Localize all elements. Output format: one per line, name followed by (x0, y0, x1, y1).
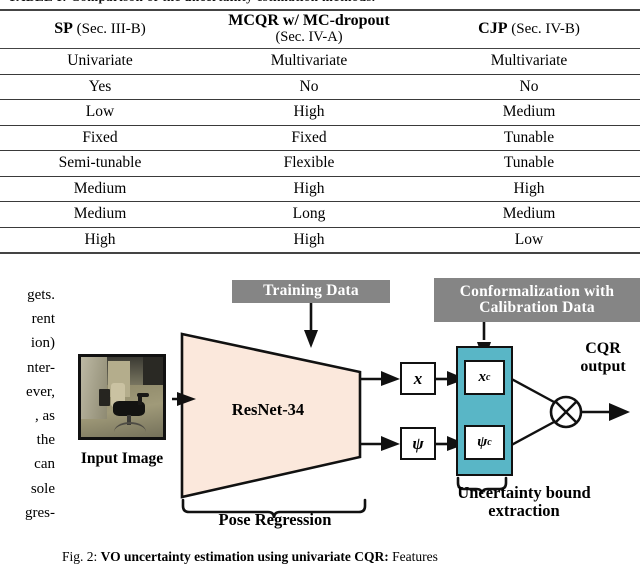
figure-caption-bold: VO uncertainty estimation using univaria… (101, 549, 389, 564)
figure-caption-line: Fig. 2: VO uncertainty estimation using … (62, 549, 438, 565)
x-variable-box[interactable]: x (400, 362, 436, 395)
conformalization-label-line2: Calibration Data (479, 300, 595, 316)
line-xc-to-multiply (506, 376, 554, 402)
input-image-label: Input Image (62, 450, 182, 468)
arrowhead-training-to-resnet (304, 330, 318, 348)
line-psic-to-multiply (506, 422, 554, 448)
table-cell: Tunable (418, 125, 640, 151)
body-text-line: can (0, 452, 58, 476)
psic-variable-box[interactable]: ψc (464, 425, 505, 460)
table-row: Univariate Multivariate Multivariate (0, 49, 640, 75)
table-cell: Yes (0, 74, 200, 100)
body-text-line: sole (0, 477, 58, 501)
table-cell: Medium (418, 202, 640, 228)
header-method-name: SP (54, 20, 73, 37)
table-cell: Fixed (200, 125, 418, 151)
uncertainty-label-line1: Uncertainty bound (410, 484, 638, 502)
header-method-name: CJP (478, 20, 507, 37)
body-text-line: gres- (0, 501, 58, 525)
table-row: Fixed Fixed Tunable (0, 125, 640, 151)
table-cell: High (0, 227, 200, 253)
body-text-line: gets. (0, 283, 58, 307)
table-caption-text: TABLE I: Comparison of the uncertainty e… (8, 0, 375, 5)
table-header-cell-1: SP (Sec. III-B) (0, 10, 200, 49)
table-cell: No (200, 74, 418, 100)
table-row: Semi-tunable Flexible Tunable (0, 151, 640, 177)
comparison-table-container: SP (Sec. III-B) MCQR w/ MC-dropout (Sec.… (0, 9, 640, 254)
body-text-line: ever, (0, 380, 58, 404)
training-data-label: Training Data (263, 283, 359, 299)
resnet-label: ResNet-34 (188, 400, 348, 420)
table-row: Yes No No (0, 74, 640, 100)
psic-variable-label: ψ (477, 434, 487, 451)
table-cell: High (200, 100, 418, 126)
photo-dark-region (143, 357, 166, 385)
table-caption-fragment: TABLE I: Comparison of the uncertainty e… (0, 0, 640, 9)
table-cell: No (418, 74, 640, 100)
body-text-line: ion) (0, 331, 58, 355)
photo-chair-arm-post (138, 395, 142, 405)
body-text-column-fragment: gets. rent ion) nter- ever, , as the can… (0, 283, 58, 525)
table-cell: Multivariate (200, 49, 418, 75)
table-row: Low High Medium (0, 100, 640, 126)
table-row: Medium High High (0, 176, 640, 202)
table-cell: Tunable (418, 151, 640, 177)
header-method-section: (Sec. III-B) (73, 21, 146, 37)
arrowhead-resnet-to-psi (381, 436, 400, 451)
header-method-name: MCQR w/ MC-dropout (228, 12, 389, 29)
table-cell: Medium (0, 202, 200, 228)
body-text-line: , as (0, 404, 58, 428)
arrowhead-resnet-to-x (381, 371, 400, 386)
photo-bin (99, 389, 110, 406)
pose-regression-label: Pose Regression (170, 510, 380, 530)
table-cell: Medium (418, 100, 640, 126)
table-cell: Fixed (0, 125, 200, 151)
table-cell: High (200, 227, 418, 253)
cqr-output-line1: CQR (548, 340, 640, 358)
arrowhead-cqr-output (609, 403, 630, 421)
training-data-box[interactable]: Training Data (232, 280, 390, 303)
table-cell: Univariate (0, 49, 200, 75)
table-cell: High (200, 176, 418, 202)
table-cell: Multivariate (418, 49, 640, 75)
xc-variable-box[interactable]: xc (464, 360, 505, 395)
body-text-line: the (0, 428, 58, 452)
figure-caption: Fig. 2: VO uncertainty estimation using … (62, 549, 640, 565)
psi-variable-label: ψ (412, 434, 423, 454)
table-cell: Flexible (200, 151, 418, 177)
psic-variable-subscript: c (487, 437, 491, 448)
figure-caption-prefix: Fig. 2: (62, 549, 101, 564)
table-cell: Medium (0, 176, 200, 202)
xc-variable-label: x (479, 369, 487, 386)
table-cell: Low (418, 227, 640, 253)
table-cell: High (418, 176, 640, 202)
cqr-output-line2: output (548, 358, 640, 376)
table-header-cell-3: CJP (Sec. IV-B) (418, 10, 640, 49)
table-row: High High Low (0, 227, 640, 253)
pipeline-diagram: Training Data Conformalization with Cali… (60, 272, 640, 540)
input-image-thumbnail[interactable] (78, 354, 166, 440)
body-text-line: nter- (0, 356, 58, 380)
table-cell: Semi-tunable (0, 151, 200, 177)
xc-variable-subscript: c (486, 372, 490, 383)
conformalization-label-line1: Conformalization with (460, 284, 614, 300)
x-variable-label: x (414, 369, 423, 389)
header-method-section: (Sec. IV-B) (507, 21, 579, 37)
table-header-row: SP (Sec. III-B) MCQR w/ MC-dropout (Sec.… (0, 10, 640, 49)
photo-left-wall (81, 357, 107, 419)
header-method-section: (Sec. IV-A) (200, 30, 418, 45)
figure-caption-suffix: Features (389, 549, 438, 564)
comparison-table: SP (Sec. III-B) MCQR w/ MC-dropout (Sec.… (0, 9, 640, 254)
uncertainty-label-line2: extraction (410, 502, 638, 520)
cqr-output-label: CQR output (548, 340, 640, 376)
conformalization-box[interactable]: Conformalization with Calibration Data (434, 278, 640, 322)
psi-variable-box[interactable]: ψ (400, 427, 436, 460)
uncertainty-bound-label: Uncertainty bound extraction (410, 484, 638, 520)
table-row: Medium Long Medium (0, 202, 640, 228)
table-cell: Long (200, 202, 418, 228)
table-cell: Low (0, 100, 200, 126)
body-text-line: rent (0, 307, 58, 331)
table-header-cell-2: MCQR w/ MC-dropout (Sec. IV-A) (200, 10, 418, 49)
